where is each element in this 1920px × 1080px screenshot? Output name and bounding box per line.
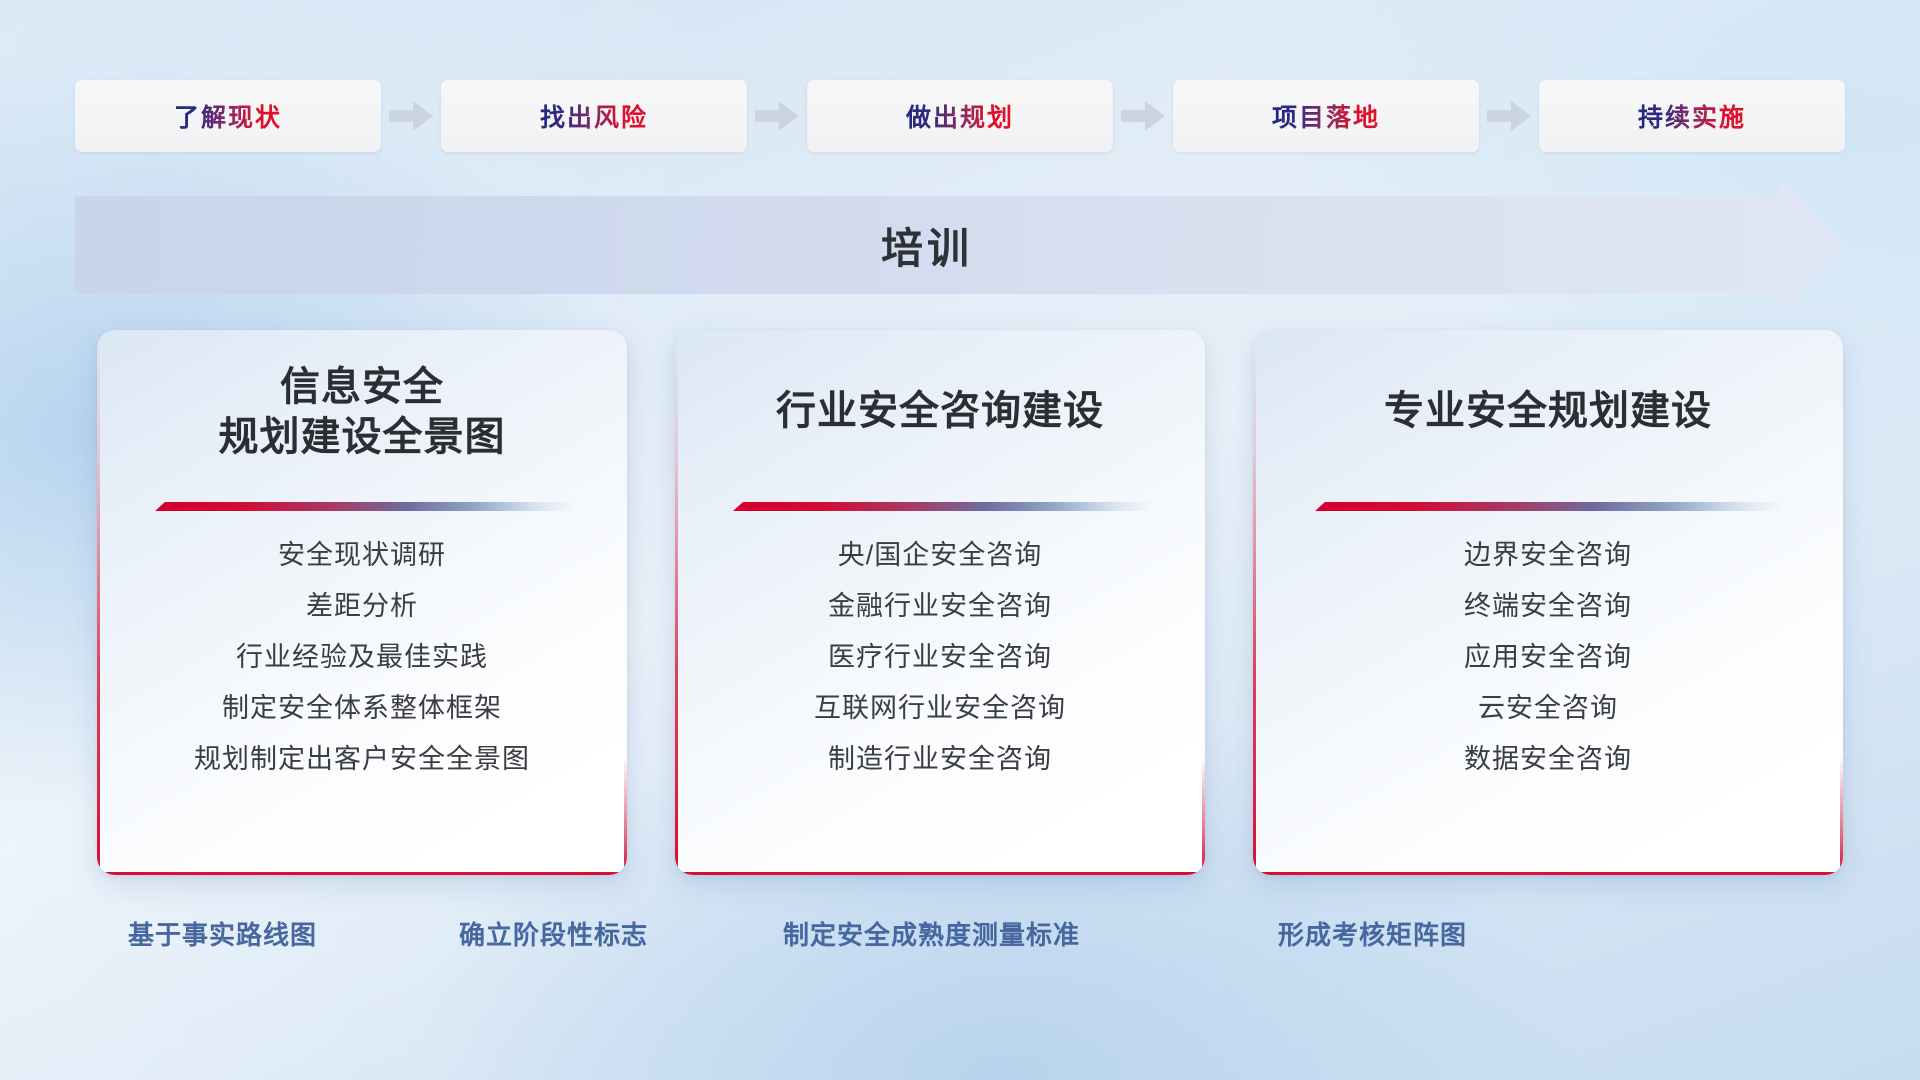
card-1-title-line-1: 信息安全 — [97, 362, 627, 412]
chevron-right-arrow-icon — [389, 101, 433, 131]
card-1-divider-bar — [155, 502, 575, 511]
step-arrow-2 — [747, 80, 807, 152]
card-3-title: 专业安全规划建设 — [1253, 386, 1843, 436]
card-2-divider-bar — [733, 502, 1153, 511]
list-item: 医疗行业安全咨询 — [675, 644, 1205, 671]
step-chip-5-surface: 持续实施 — [1541, 82, 1844, 151]
capability-card-3[interactable]: 专业安全规划建设 边界安全咨询 终端安全咨询 应用安全咨询 云安全咨询 数据安全… — [1253, 330, 1843, 875]
outcome-label-2: 确立阶段性标志 — [459, 915, 648, 952]
card-1-divider — [155, 502, 575, 511]
card-1-title: 信息安全 规划建设全景图 — [97, 362, 627, 463]
card-2-bottom-accent — [675, 872, 1205, 875]
step-chip-2[interactable]: 找出风险 — [441, 80, 747, 152]
list-item: 制定安全体系整体框架 — [97, 695, 627, 722]
step-arrow-3 — [1113, 80, 1173, 152]
chevron-right-arrow-icon — [1487, 101, 1531, 131]
capability-card-row: 信息安全 规划建设全景图 安全现状调研 差距分析 行业经验及最佳实践 制定安全体… — [75, 330, 1865, 875]
list-item: 规划制定出客户安全全景图 — [97, 746, 627, 773]
outcome-label-1: 基于事实路线图 — [128, 915, 317, 952]
outcome-label-3: 制定安全成熟度测量标准 — [783, 915, 1080, 952]
capability-card-2[interactable]: 行业安全咨询建设 央/国企安全咨询 金融行业安全咨询 医疗行业安全咨询 互联网行… — [675, 330, 1205, 875]
list-item: 行业经验及最佳实践 — [97, 644, 627, 671]
training-banner: 培训 — [75, 196, 1845, 294]
card-3-divider-bar — [1315, 502, 1783, 511]
step-chip-1-label: 了解现状 — [174, 98, 282, 134]
step-chip-1[interactable]: 了解现状 — [75, 80, 381, 152]
card-3-bottom-accent — [1253, 872, 1843, 875]
list-item: 终端安全咨询 — [1253, 593, 1843, 620]
list-item: 央/国企安全咨询 — [675, 542, 1205, 569]
list-item: 云安全咨询 — [1253, 695, 1843, 722]
list-item: 数据安全咨询 — [1253, 746, 1843, 773]
card-1-item-list: 安全现状调研 差距分析 行业经验及最佳实践 制定安全体系整体框架 规划制定出客户… — [97, 542, 627, 797]
list-item: 差距分析 — [97, 593, 627, 620]
list-item: 制造行业安全咨询 — [675, 746, 1205, 773]
step-chip-4-surface: 项目落地 — [1175, 82, 1478, 151]
process-step-row: 了解现状 找出风险 做出规划 项目落地 — [75, 80, 1845, 152]
capability-card-1[interactable]: 信息安全 规划建设全景图 安全现状调研 差距分析 行业经验及最佳实践 制定安全体… — [97, 330, 627, 875]
chevron-right-arrow-icon — [755, 101, 799, 131]
outcome-label-row: 基于事实路线图 确立阶段性标志 制定安全成熟度测量标准 形成考核矩阵图 — [0, 915, 1920, 965]
step-chip-4[interactable]: 项目落地 — [1173, 80, 1479, 152]
card-3-item-list: 边界安全咨询 终端安全咨询 应用安全咨询 云安全咨询 数据安全咨询 — [1253, 542, 1843, 797]
step-chip-2-label: 找出风险 — [540, 98, 648, 134]
step-chip-1-surface: 了解现状 — [77, 82, 380, 151]
list-item: 互联网行业安全咨询 — [675, 695, 1205, 722]
training-banner-arrowhead-icon — [1779, 177, 1845, 313]
step-chip-3[interactable]: 做出规划 — [807, 80, 1113, 152]
card-3-title-line-1: 专业安全规划建设 — [1253, 386, 1843, 436]
chevron-right-arrow-icon — [1121, 101, 1165, 131]
card-2-divider — [733, 502, 1153, 511]
step-arrow-1 — [381, 80, 441, 152]
list-item: 金融行业安全咨询 — [675, 593, 1205, 620]
outcome-label-4: 形成考核矩阵图 — [1278, 915, 1467, 952]
card-2-title-line-1: 行业安全咨询建设 — [675, 386, 1205, 436]
card-1-bottom-accent — [97, 872, 627, 875]
list-item: 应用安全咨询 — [1253, 644, 1843, 671]
step-chip-3-surface: 做出规划 — [809, 82, 1112, 151]
step-arrow-4 — [1479, 80, 1539, 152]
list-item: 安全现状调研 — [97, 542, 627, 569]
card-3-divider — [1315, 502, 1783, 511]
step-chip-5-label: 持续实施 — [1638, 98, 1746, 134]
step-chip-5[interactable]: 持续实施 — [1539, 80, 1845, 152]
card-2-title: 行业安全咨询建设 — [675, 386, 1205, 436]
step-chip-3-label: 做出规划 — [906, 98, 1014, 134]
card-2-item-list: 央/国企安全咨询 金融行业安全咨询 医疗行业安全咨询 互联网行业安全咨询 制造行… — [675, 542, 1205, 797]
list-item: 边界安全咨询 — [1253, 542, 1843, 569]
step-chip-4-label: 项目落地 — [1272, 98, 1380, 134]
card-1-title-line-2: 规划建设全景图 — [97, 412, 627, 462]
step-chip-2-surface: 找出风险 — [443, 82, 746, 151]
training-banner-label: 培训 — [75, 196, 1779, 294]
